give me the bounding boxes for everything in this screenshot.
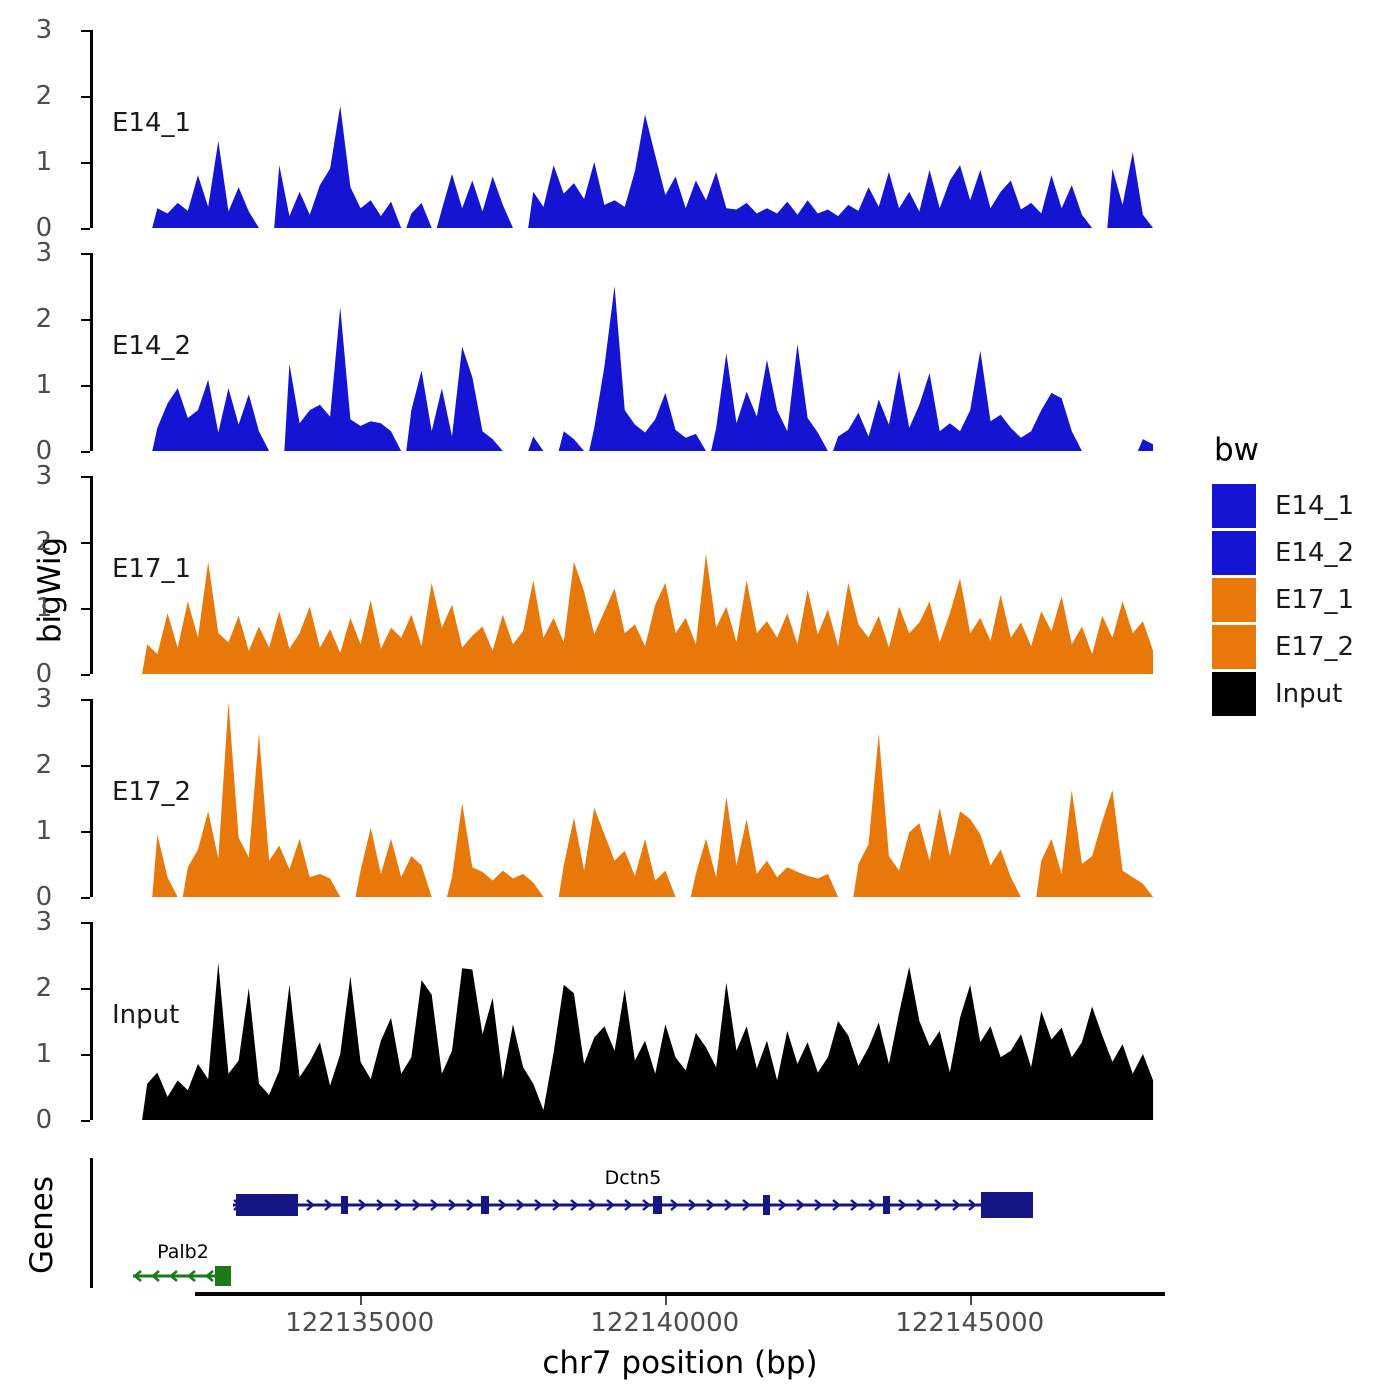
gene-label-palb2: Palb2 <box>157 1241 209 1263</box>
genes-track-panel: Dctn5 Palb2 <box>90 1158 1170 1288</box>
plot-area <box>93 30 1170 228</box>
coverage-area <box>152 380 269 451</box>
coverage-panel-e14_2: 0123E14_2 <box>90 253 1170 451</box>
y-tick-label: 1 <box>36 147 53 177</box>
y-tick-label: 1 <box>36 370 53 400</box>
coverage-area <box>142 554 1153 674</box>
y-tick <box>81 1054 90 1056</box>
x-axis-line <box>195 1292 1165 1296</box>
x-tick <box>360 1296 362 1305</box>
legend-items: E14_1E14_2E17_1E17_2Input <box>1212 482 1392 717</box>
x-tick-label: 122145000 <box>895 1308 1044 1338</box>
coverage-svg <box>93 30 1170 228</box>
y-tick <box>81 699 90 701</box>
x-axis-title: chr7 position (bp) <box>195 1345 1165 1381</box>
coverage-area <box>833 351 1082 451</box>
plot-area <box>93 699 1170 897</box>
x-tick-label: 122140000 <box>590 1308 739 1338</box>
y-tick-label: 0 <box>36 1105 53 1135</box>
coverage-area <box>691 797 838 897</box>
y-tick-label: 3 <box>36 907 53 937</box>
y-tick-label: 3 <box>36 684 53 714</box>
coverage-panel-input: 0123Input <box>90 922 1170 1120</box>
y-tick-label: 1 <box>36 816 53 846</box>
legend-swatch <box>1212 531 1256 575</box>
y-tick <box>81 476 90 478</box>
gene-label-dctn5: Dctn5 <box>605 1167 662 1189</box>
x-tick-label: 122135000 <box>285 1308 434 1338</box>
y-tick <box>81 542 90 544</box>
y-tick <box>81 451 90 453</box>
coverage-area <box>711 344 828 451</box>
y-tick <box>81 162 90 164</box>
coverage-area <box>589 286 706 451</box>
y-tick <box>81 922 90 924</box>
coverage-area <box>437 174 513 228</box>
y-axis-title-genes: Genes <box>22 1145 62 1305</box>
plot-area <box>93 476 1170 674</box>
y-tick <box>81 228 90 230</box>
coverage-area <box>142 963 1153 1120</box>
y-tick <box>81 1120 90 1122</box>
y-tick <box>81 319 90 321</box>
x-tick <box>665 1296 667 1305</box>
coverage-svg <box>93 253 1170 451</box>
y-tick-label: 2 <box>36 304 53 334</box>
x-tick <box>970 1296 972 1305</box>
y-tick <box>81 253 90 255</box>
legend-label: Input <box>1275 679 1342 709</box>
y-tick <box>81 385 90 387</box>
legend-label: E14_1 <box>1275 491 1354 521</box>
gene-dctn5[interactable]: Dctn5 <box>233 1167 1033 1218</box>
legend-item-e17_1[interactable]: E17_1 <box>1212 576 1392 623</box>
coverage-area <box>528 114 1092 228</box>
coverage-area <box>406 347 503 451</box>
legend-item-input[interactable]: Input <box>1212 670 1392 717</box>
y-tick-label: 2 <box>36 81 53 111</box>
plot-area <box>93 253 1170 451</box>
y-tick <box>81 765 90 767</box>
y-tick-label: 1 <box>36 1039 53 1069</box>
coverage-area <box>152 834 177 897</box>
coverage-area <box>528 436 543 451</box>
coverage-area <box>853 733 1021 897</box>
bigwig-genome-browser-figure: bigWig Genes 0123E14_10123E14_20123E17_1… <box>0 0 1400 1400</box>
legend-swatch <box>1212 625 1256 669</box>
legend-item-e14_2[interactable]: E14_2 <box>1212 529 1392 576</box>
coverage-area <box>152 141 259 228</box>
y-tick <box>81 831 90 833</box>
legend-label: E14_2 <box>1275 538 1354 568</box>
legend-label: E17_1 <box>1275 585 1354 615</box>
coverage-svg <box>93 922 1170 1120</box>
coverage-panel-e17_1: 0123E17_1 <box>90 476 1170 674</box>
y-tick-label: 3 <box>36 15 53 45</box>
y-tick <box>81 897 90 899</box>
y-tick-label: 2 <box>36 527 53 557</box>
y-tick <box>81 674 90 676</box>
y-tick <box>81 988 90 990</box>
coverage-area <box>183 702 340 897</box>
gene-palb2[interactable]: Palb2 <box>133 1241 231 1286</box>
y-tick-label: 1 <box>36 593 53 623</box>
coverage-panel-e17_2: 0123E17_2 <box>90 699 1170 897</box>
y-tick <box>81 30 90 32</box>
coverage-area <box>274 106 401 228</box>
y-tick-label: 2 <box>36 973 53 1003</box>
y-tick <box>81 96 90 98</box>
coverage-area <box>559 431 584 451</box>
coverage-area <box>1107 152 1153 228</box>
y-tick <box>81 608 90 610</box>
coverage-area <box>1138 439 1153 451</box>
legend-swatch <box>1212 672 1256 716</box>
legend-title: bw <box>1214 432 1392 468</box>
legend-swatch <box>1212 578 1256 622</box>
legend: bw E14_1E14_2E17_1E17_2Input <box>1212 432 1392 717</box>
genes-svg: Dctn5 Palb2 <box>93 1158 1170 1288</box>
coverage-area <box>1036 790 1153 897</box>
genes-plot-area: Dctn5 Palb2 <box>93 1158 1170 1288</box>
legend-item-e14_1[interactable]: E14_1 <box>1212 482 1392 529</box>
legend-label: E17_2 <box>1275 632 1354 662</box>
coverage-area <box>355 828 431 897</box>
coverage-area <box>447 803 544 897</box>
coverage-svg <box>93 476 1170 674</box>
coverage-area <box>284 307 401 451</box>
y-tick-label: 2 <box>36 750 53 780</box>
coverage-area <box>559 808 676 897</box>
plot-area <box>93 922 1170 1120</box>
y-tick-label: 3 <box>36 238 53 268</box>
coverage-panel-e14_1: 0123E14_1 <box>90 30 1170 228</box>
y-tick-label: 3 <box>36 461 53 491</box>
legend-swatch <box>1212 484 1256 528</box>
coverage-area <box>406 203 431 228</box>
coverage-svg <box>93 699 1170 897</box>
legend-item-e17_2[interactable]: E17_2 <box>1212 623 1392 670</box>
